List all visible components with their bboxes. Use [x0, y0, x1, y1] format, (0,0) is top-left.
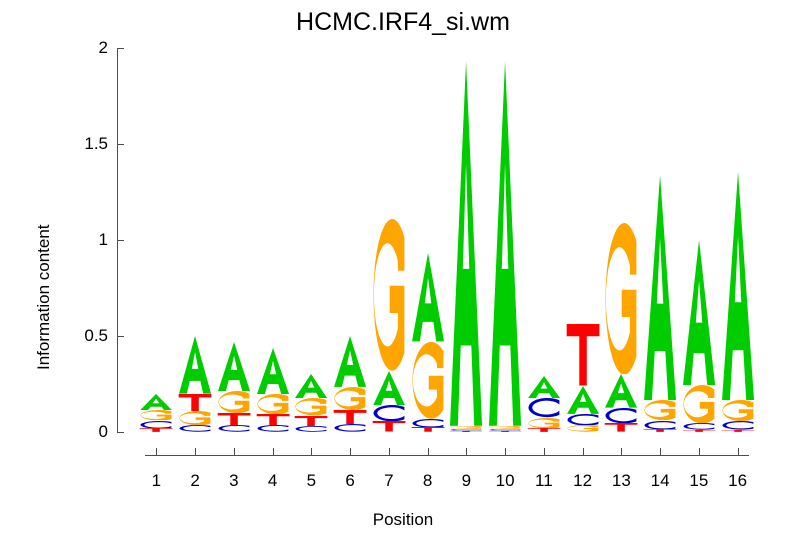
- y-tick: [117, 336, 124, 337]
- logo-letter-t: [527, 428, 561, 432]
- x-tick-label: 7: [384, 471, 393, 491]
- logo-letter-a: [333, 336, 367, 387]
- logo-letter-c: [333, 424, 367, 432]
- logo-letter-t: [682, 430, 716, 432]
- x-tick: [660, 448, 661, 456]
- logo-letter-t: [449, 431, 483, 432]
- logo-stack: [604, 48, 638, 432]
- logo-stack: [256, 48, 290, 432]
- logo-letter-g: [449, 426, 483, 429]
- logo-letter-g: [372, 219, 406, 371]
- logo-letter-g: [411, 342, 445, 419]
- y-tick: [117, 48, 124, 49]
- x-tick-label: 8: [423, 471, 432, 491]
- logo-stack: [178, 48, 212, 432]
- x-tick: [350, 448, 351, 456]
- logo-stack: [333, 48, 367, 432]
- logo-letter-t: [566, 324, 600, 385]
- logo-letter-t: [294, 416, 328, 427]
- x-tick: [428, 448, 429, 456]
- logo-letter-c: [372, 405, 406, 421]
- x-tick: [389, 448, 390, 456]
- logo-letter-t: [139, 428, 173, 432]
- logo-letter-a: [682, 240, 716, 385]
- logo-stack: [527, 48, 561, 432]
- x-tick-label: 6: [345, 471, 354, 491]
- x-tick-label: 16: [728, 471, 747, 491]
- logo-stack: [449, 48, 483, 432]
- logo-letter-g: [682, 385, 716, 423]
- logo-letter-a: [178, 336, 212, 394]
- logo-letter-a: [527, 376, 561, 398]
- x-tick-label: 15: [689, 471, 708, 491]
- logo-stack: [217, 48, 251, 432]
- x-tick-label: 11: [535, 471, 553, 491]
- y-tick-label: 2: [60, 38, 108, 58]
- logo-letter-g: [527, 418, 561, 429]
- logo-letter-c: [488, 429, 522, 431]
- logo-stack: [294, 48, 328, 432]
- logo-letter-c: [527, 398, 561, 417]
- y-tick: [117, 144, 124, 145]
- logo-stack: [682, 48, 716, 432]
- logo-letter-t: [721, 430, 755, 432]
- logo-letter-g: [643, 400, 677, 420]
- x-tick-label: 2: [190, 471, 199, 491]
- x-tick-label: 5: [307, 471, 316, 491]
- logo-letter-c: [411, 419, 445, 428]
- y-tick: [117, 432, 124, 433]
- logo-letter-a: [488, 61, 522, 426]
- logo-letter-a: [372, 371, 406, 406]
- logo-letter-c: [643, 421, 677, 430]
- x-tick: [234, 448, 235, 456]
- logo-letter-g: [178, 411, 212, 425]
- logo-stack: [488, 48, 522, 432]
- logo-letter-t: [372, 421, 406, 432]
- logo-letter-t: [333, 410, 367, 424]
- x-tick: [195, 448, 196, 456]
- logo-stack: [139, 48, 173, 432]
- logo-letter-a: [566, 386, 600, 414]
- logo-letter-a: [139, 394, 173, 410]
- logo-letter-t: [488, 431, 522, 432]
- logo-letter-a: [721, 172, 755, 400]
- logo-letter-c: [217, 425, 251, 432]
- logo-plot-root: HCMC.IRF4_si.wm 00.511.52 Information co…: [0, 0, 806, 559]
- logo-letter-c: [294, 426, 328, 432]
- logo-letter-a: [604, 374, 638, 408]
- x-tick: [738, 448, 739, 456]
- y-tick-label: 1.5: [60, 134, 108, 154]
- x-tick: [621, 448, 622, 456]
- x-tick: [273, 448, 274, 456]
- x-tick: [544, 448, 545, 456]
- y-tick-label: 0: [60, 422, 108, 442]
- logo-letter-g: [139, 410, 173, 421]
- y-tick-label: 0.5: [60, 326, 108, 346]
- logo-letter-c: [449, 429, 483, 431]
- logo-stack: [721, 48, 755, 432]
- x-tick: [311, 448, 312, 456]
- logo-letter-g: [488, 426, 522, 429]
- logo-letter-t: [217, 413, 251, 425]
- logo-letter-c: [566, 414, 600, 426]
- logo-letter-t: [604, 423, 638, 432]
- x-tick: [699, 448, 700, 456]
- x-tick-label: 4: [268, 471, 277, 491]
- logo-letter-a: [294, 374, 328, 398]
- logo-letter-g: [721, 400, 755, 421]
- logo-stack: [372, 48, 406, 432]
- logo-letter-g: [333, 387, 367, 410]
- x-tick-label: 12: [573, 471, 592, 491]
- logo-letter-g: [566, 425, 600, 432]
- x-axis-title: Position: [0, 510, 806, 530]
- logo-letter-g: [256, 394, 290, 414]
- y-tick: [117, 240, 124, 241]
- logo-letter-c: [682, 423, 716, 430]
- x-tick-label: 14: [651, 471, 670, 491]
- logo-letter-c: [721, 421, 755, 430]
- logo-letter-a: [217, 342, 251, 391]
- logo-stack: [566, 48, 600, 432]
- x-tick: [466, 448, 467, 456]
- logo-letter-c: [604, 408, 638, 423]
- logo-letter-a: [643, 175, 677, 401]
- x-tick: [583, 448, 584, 456]
- logo-letter-a: [256, 348, 290, 394]
- x-tick-label: 1: [152, 471, 161, 491]
- logo-letter-g: [217, 391, 251, 413]
- x-tick-label: 10: [496, 471, 515, 491]
- x-tick: [156, 448, 157, 456]
- logo-letter-g: [604, 223, 638, 375]
- logo-letter-t: [256, 414, 290, 426]
- logo-letter-a: [449, 61, 483, 426]
- logo-letter-t: [178, 394, 212, 411]
- logo-letter-g: [294, 398, 328, 415]
- x-tick-label: 13: [612, 471, 631, 491]
- logo-stack: [643, 48, 677, 432]
- logo-letter-c: [256, 425, 290, 432]
- logo-letter-t: [411, 427, 445, 432]
- y-tick-label: 1: [60, 230, 108, 250]
- sequence-logo-area: [137, 48, 757, 432]
- x-tick: [505, 448, 506, 456]
- logo-stack: [411, 48, 445, 432]
- x-tick-label: 3: [229, 471, 238, 491]
- x-axis-line: [145, 455, 749, 456]
- logo-letter-c: [178, 425, 212, 432]
- logo-letter-t: [643, 429, 677, 432]
- page-title: HCMC.IRF4_si.wm: [0, 8, 806, 37]
- y-axis-title: Information content: [34, 224, 54, 370]
- logo-letter-a: [411, 253, 445, 341]
- x-tick-label: 9: [462, 471, 471, 491]
- logo-letter-c: [139, 421, 173, 429]
